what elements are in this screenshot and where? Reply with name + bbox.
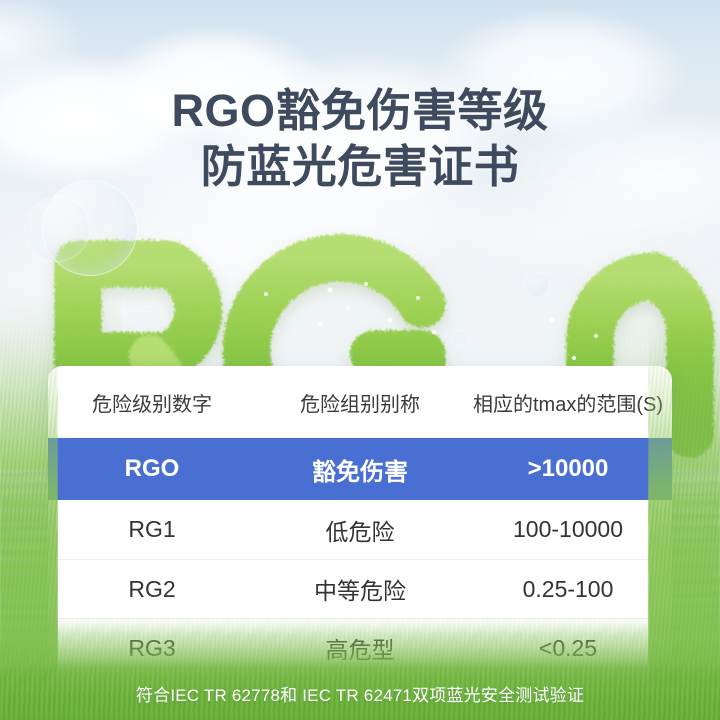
column-header-level: 危险级别数字: [48, 388, 256, 417]
cell-range: >10000: [464, 455, 672, 483]
certification-footnote: 符合IEC TR 62778和 IEC TR 62471双项蓝光安全测试验证: [0, 681, 720, 706]
page-title: RGO豁免伤害等级 防蓝光危害证书: [0, 86, 720, 191]
cell-group: 低危险: [256, 513, 464, 547]
cell-range: 0.25-100: [464, 576, 672, 603]
page-title-line-1: RGO豁免伤害等级: [0, 86, 720, 136]
table-row-highlighted: RGO 豁免伤害 >10000: [48, 438, 672, 500]
table-header-row: 危险级别数字 危险组别别称 相应的tmax的范围(S): [48, 366, 672, 438]
cell-level: RGO: [48, 455, 256, 483]
column-header-tmax: 相应的tmax的范围(S): [464, 388, 672, 417]
bubble-icon-3: [524, 272, 550, 298]
page-title-line-2: 防蓝光危害证书: [0, 142, 720, 192]
certificate-page: RGO豁免伤害等级 防蓝光危害证书 危险级别数字 危险组别别称 相应的tmax的…: [0, 0, 720, 720]
table-row: RG1 低危险 100-10000: [48, 500, 672, 559]
cell-group: 中等危险: [256, 572, 464, 606]
bubble-icon-4: [452, 330, 468, 346]
cell-group: 豁免伤害: [256, 452, 464, 487]
cell-level: RG1: [48, 516, 256, 543]
column-header-group: 危险组别别称: [256, 388, 464, 417]
bubble-icon-2: [24, 196, 90, 262]
table-row: RG2 中等危险 0.25-100: [48, 559, 672, 618]
cell-range: 100-10000: [464, 516, 672, 543]
cell-level: RG2: [48, 576, 256, 603]
